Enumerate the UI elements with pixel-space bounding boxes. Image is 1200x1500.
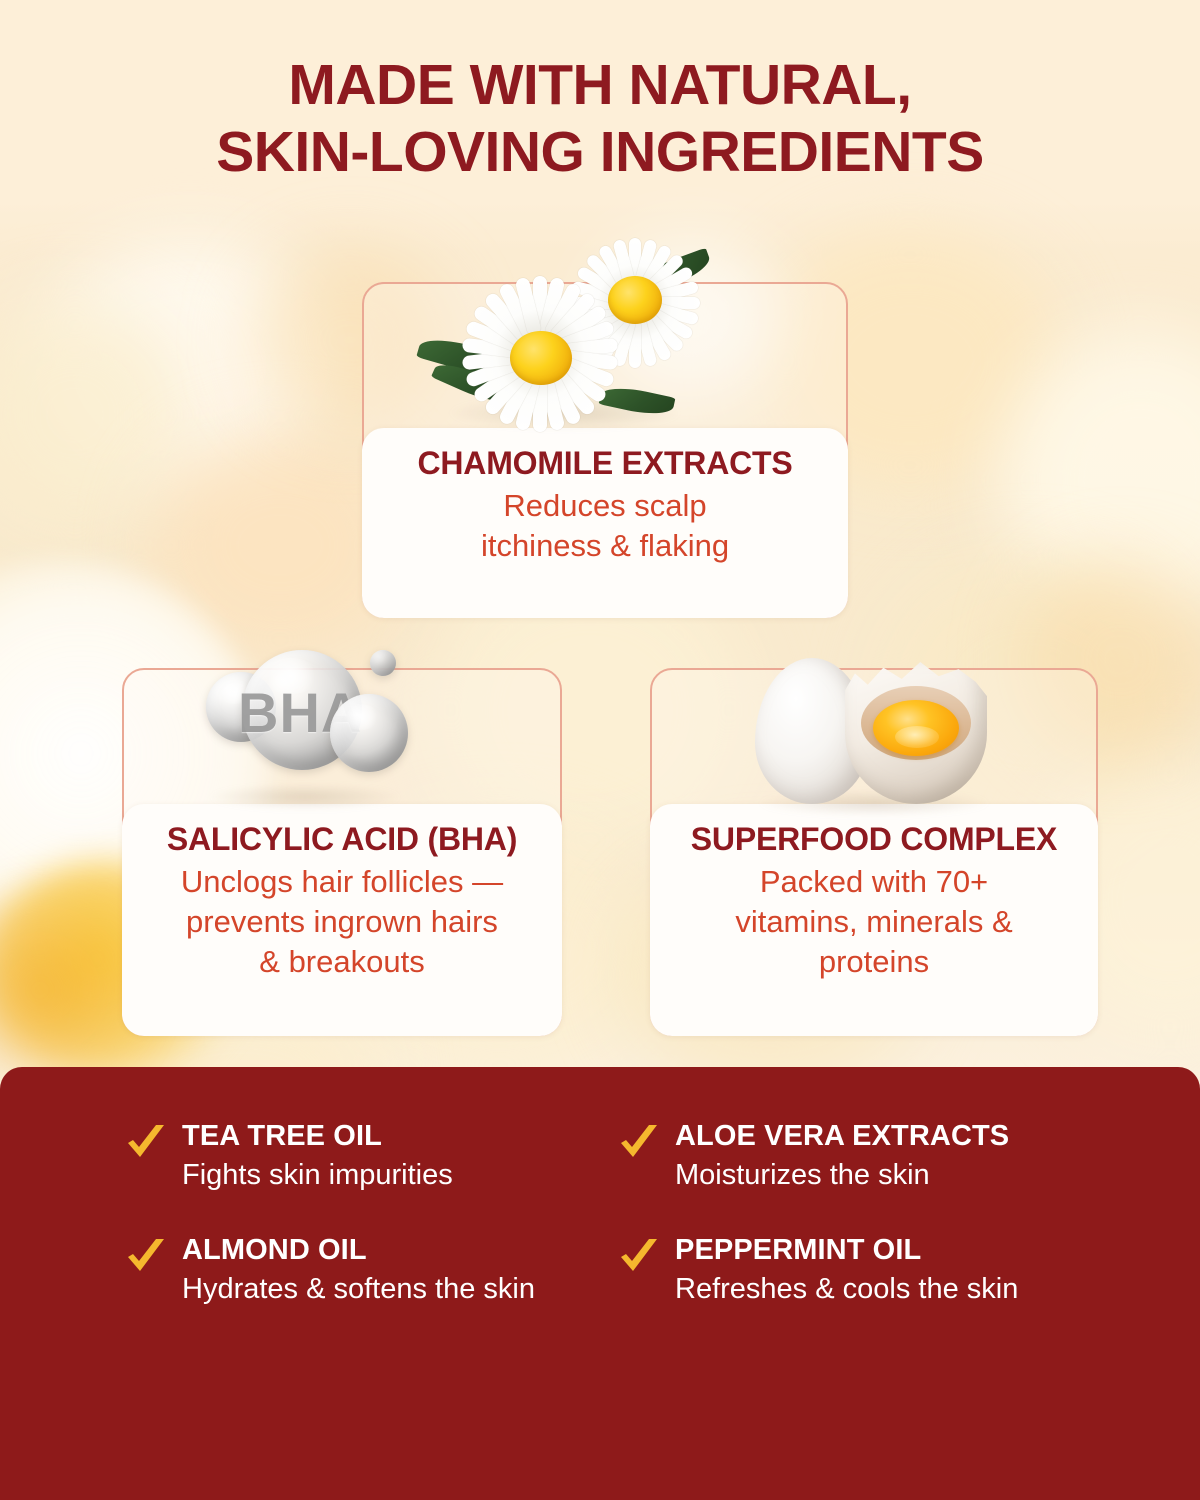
benefit-title: TEA TREE OIL [182,1119,581,1153]
card-description: Unclogs hair follicles — prevents ingrow… [138,862,546,983]
benefit-item-tea-tree-oil: TEA TREE OIL Fights skin impurities [126,1119,581,1195]
card-text-panel: SUPERFOOD COMPLEX Packed with 70+ vitami… [650,804,1098,1036]
card-title: SALICYLIC ACID (BHA) [138,822,546,858]
card-text-panel: CHAMOMILE EXTRACTS Reduces scalp itchine… [362,428,848,618]
benefit-title: ALMOND OIL [182,1233,581,1267]
card-title: SUPERFOOD COMPLEX [666,822,1082,858]
card-title: CHAMOMILE EXTRACTS [378,446,832,482]
benefit-description: Fights skin impurities [182,1157,581,1195]
ingredients-infographic: MADE WITH NATURAL, SKIN-LOVING INGREDIEN… [0,0,1200,1500]
check-icon [126,1123,166,1165]
benefit-title: ALOE VERA EXTRACTS [675,1119,1074,1153]
check-icon [619,1237,659,1279]
benefit-description: Moisturizes the skin [675,1157,1074,1195]
ingredient-card-salicylic-acid: SALICYLIC ACID (BHA) Unclogs hair follic… [122,668,562,1036]
benefit-item-peppermint-oil: PEPPERMINT OIL Refreshes & cools the ski… [619,1233,1074,1309]
benefit-title: PEPPERMINT OIL [675,1233,1074,1267]
benefits-panel: TEA TREE OIL Fights skin impurities ALOE… [0,1067,1200,1500]
ingredient-card-superfood-complex: SUPERFOOD COMPLEX Packed with 70+ vitami… [650,668,1098,1036]
ingredient-card-chamomile: CHAMOMILE EXTRACTS Reduces scalp itchine… [362,282,848,618]
card-description: Reduces scalp itchiness & flaking [378,486,832,567]
benefit-description: Refreshes & cools the skin [675,1271,1074,1309]
check-icon [126,1237,166,1279]
benefits-grid: TEA TREE OIL Fights skin impurities ALOE… [0,1119,1200,1309]
page-title: MADE WITH NATURAL, SKIN-LOVING INGREDIEN… [0,52,1200,187]
benefit-item-almond-oil: ALMOND OIL Hydrates & softens the skin [126,1233,581,1309]
card-description: Packed with 70+ vitamins, minerals & pro… [666,862,1082,983]
card-text-panel: SALICYLIC ACID (BHA) Unclogs hair follic… [122,804,562,1036]
benefit-description: Hydrates & softens the skin [182,1271,581,1309]
check-icon [619,1123,659,1165]
benefit-item-aloe-vera-extracts: ALOE VERA EXTRACTS Moisturizes the skin [619,1119,1074,1195]
